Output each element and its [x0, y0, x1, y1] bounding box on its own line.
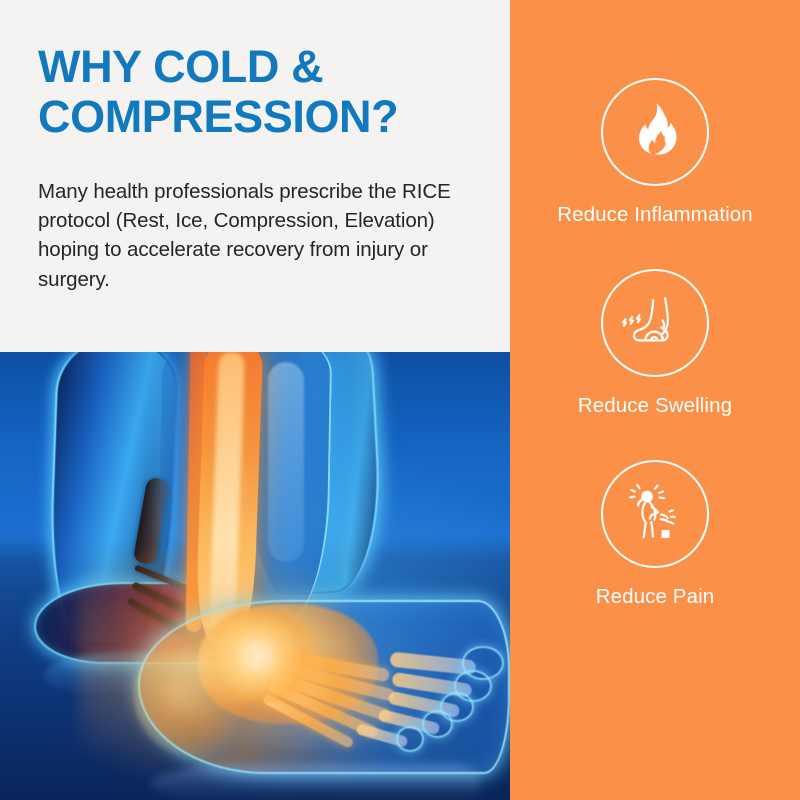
flame-icon [624, 101, 686, 163]
benefit-item-inflammation: Reduce Inflammation [510, 78, 800, 229]
left-column: WHY COLD & COMPRESSION? Many health prof… [0, 0, 510, 800]
benefit-label: Reduce Pain [596, 582, 715, 611]
text-block: WHY COLD & COMPRESSION? Many health prof… [0, 0, 510, 352]
foot-outline [138, 600, 510, 774]
foot-reflection [150, 764, 480, 800]
infographic-poster: WHY COLD & COMPRESSION? Many health prof… [0, 0, 800, 800]
benefit-item-pain: Reduce Pain [510, 460, 800, 611]
benefit-item-swelling: Reduce Swelling [510, 269, 800, 420]
swollen-foot-icon [622, 294, 688, 352]
icon-circle [601, 269, 709, 377]
ankle-xray-illustration [0, 352, 510, 800]
benefits-panel: Reduce Inflammation [510, 0, 800, 800]
front-foot [140, 598, 510, 788]
benefit-label: Reduce Inflammation [557, 200, 753, 229]
body-paragraph: Many health professionals prescribe the … [38, 177, 470, 294]
benefit-label: Reduce Swelling [578, 391, 732, 420]
icon-circle [601, 78, 709, 186]
icon-circle [601, 460, 709, 568]
page-title: WHY COLD & COMPRESSION? [38, 42, 470, 143]
back-pain-person-icon [622, 483, 688, 545]
